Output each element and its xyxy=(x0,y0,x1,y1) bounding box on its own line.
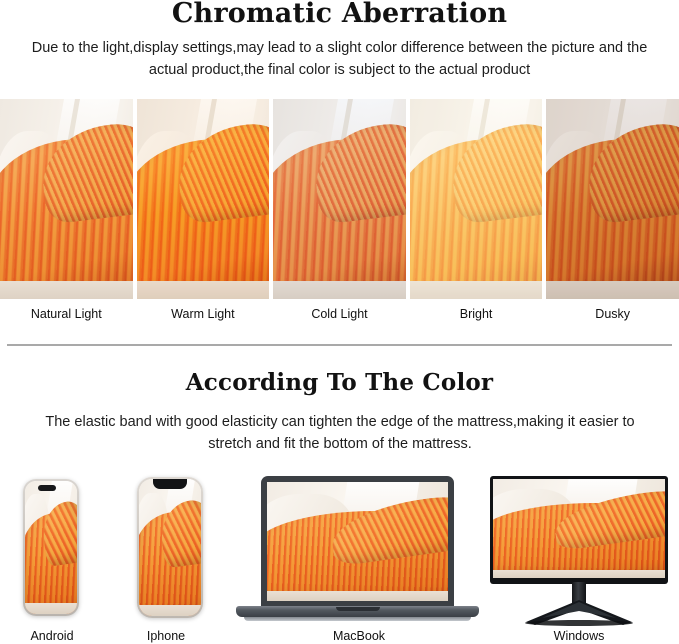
device-preview-gallery xyxy=(0,468,679,644)
device-label-row: Android Iphone MacBook Windows xyxy=(0,628,679,644)
device-label-macbook: MacBook xyxy=(300,628,418,644)
light-sample-photo xyxy=(273,99,406,299)
android-phone-icon xyxy=(23,479,79,616)
device-label-windows: Windows xyxy=(520,628,638,644)
iphone-product-photo xyxy=(139,479,201,616)
light-sample-photo xyxy=(546,99,679,299)
macbook-laptop-icon xyxy=(236,476,479,622)
light-sample-photo xyxy=(410,99,543,299)
device-label-android: Android xyxy=(0,628,104,644)
windows-monitor-icon xyxy=(488,476,670,626)
light-sample-label: Dusky xyxy=(546,306,679,324)
section-divider xyxy=(7,344,672,346)
iphone-screen xyxy=(139,479,201,616)
android-product-photo xyxy=(25,481,77,614)
light-sample-label: Bright xyxy=(410,306,543,324)
light-condition-gallery xyxy=(0,99,679,299)
macbook-screen xyxy=(267,482,448,601)
macbook-foot xyxy=(244,617,471,621)
windows-product-photo xyxy=(493,479,665,578)
light-sample-label: Cold Light xyxy=(273,306,406,324)
product-detail-page: Chromatic Aberration Due to the light,di… xyxy=(0,0,679,644)
iphone-phone-icon xyxy=(137,477,203,618)
light-sample-label: Natural Light xyxy=(0,306,133,324)
macbook-hinge-notch xyxy=(336,607,380,611)
android-screen xyxy=(25,481,77,614)
light-sample-photo xyxy=(0,99,133,299)
light-sample-photo xyxy=(137,99,270,299)
android-notch-icon xyxy=(38,485,56,491)
light-sample-label: Warm Light xyxy=(137,306,270,324)
macbook-lid xyxy=(261,476,454,610)
chromatic-aberration-title: Chromatic Aberration xyxy=(0,0,679,30)
windows-monitor-bezel xyxy=(490,476,668,584)
chromatic-aberration-subtitle: Due to the light,display settings,may le… xyxy=(18,37,661,81)
according-to-the-color-title: According To The Color xyxy=(0,369,679,397)
macbook-product-photo xyxy=(267,482,448,601)
iphone-notch-icon xyxy=(153,479,187,489)
device-label-iphone: Iphone xyxy=(118,628,214,644)
according-to-the-color-subtitle: The elastic band with good elasticity ca… xyxy=(40,411,640,455)
windows-screen xyxy=(493,479,665,578)
windows-monitor-base xyxy=(520,600,638,626)
light-condition-labels: Natural LightWarm LightCold LightBrightD… xyxy=(0,306,679,324)
